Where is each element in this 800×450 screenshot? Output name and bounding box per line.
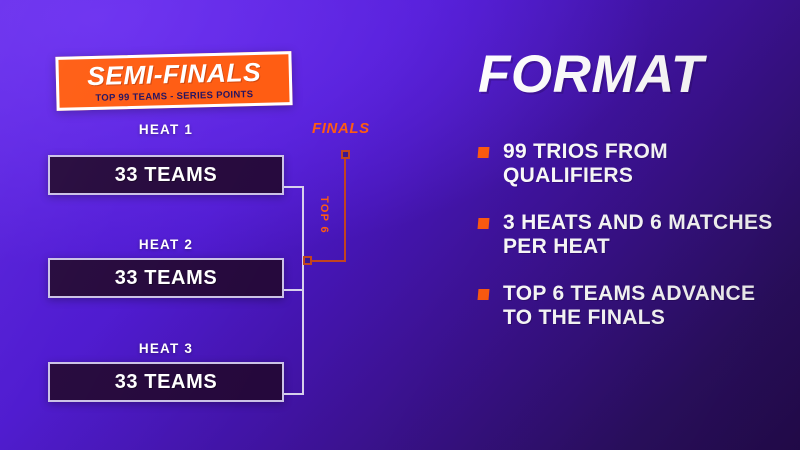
heat-3-teams: 33 TEAMS [115, 371, 218, 394]
finals-label: FINALS [312, 120, 370, 137]
heat-2-box: 33 TEAMS [48, 258, 284, 298]
banner-subtitle: TOP 99 TEAMS - SERIES POINTS [95, 90, 253, 103]
heat-3-label: HEAT 3 [48, 341, 284, 356]
semi-finals-banner: SEMI-FINALS TOP 99 TEAMS - SERIES POINTS [55, 51, 292, 111]
bullet-text-2: 3 HEATS AND 6 MATCHES PER HEAT [503, 211, 790, 258]
list-item: 99 TRIOS FROM QUALIFIERS [478, 140, 790, 187]
heat-2-teams: 33 TEAMS [115, 267, 218, 290]
format-bullet-list: 99 TRIOS FROM QUALIFIERS 3 HEATS AND 6 M… [478, 140, 790, 353]
heat-3-box: 33 TEAMS [48, 362, 284, 402]
heat-1-box: 33 TEAMS [48, 155, 284, 195]
banner-title: SEMI-FINALS [87, 59, 262, 89]
top-6-label: TOP 6 [318, 196, 330, 234]
bracket-line-heat-3 [284, 393, 304, 395]
heat-1-label: HEAT 1 [48, 122, 284, 137]
bullet-square-icon [478, 289, 490, 300]
bracket-line-heat-2 [284, 289, 304, 291]
finals-line-vertical [344, 155, 346, 262]
bullet-square-icon [478, 147, 490, 158]
heat-1-teams: 33 TEAMS [115, 164, 218, 187]
bracket-line-spine [302, 186, 304, 395]
format-title: FORMAT [478, 48, 704, 101]
finals-node-junction [303, 256, 312, 265]
finals-node-top [341, 150, 350, 159]
finals-line-horizontal [308, 260, 346, 262]
bullet-text-3: TOP 6 TEAMS ADVANCE TO THE FINALS [503, 282, 790, 329]
list-item: TOP 6 TEAMS ADVANCE TO THE FINALS [478, 282, 790, 329]
bullet-text-1: 99 TRIOS FROM QUALIFIERS [503, 140, 790, 187]
list-item: 3 HEATS AND 6 MATCHES PER HEAT [478, 211, 790, 258]
tournament-format-slide: SEMI-FINALS TOP 99 TEAMS - SERIES POINTS… [0, 0, 800, 450]
bullet-square-icon [478, 218, 490, 229]
bracket-line-heat-1 [284, 186, 304, 188]
heat-2-label: HEAT 2 [48, 237, 284, 252]
